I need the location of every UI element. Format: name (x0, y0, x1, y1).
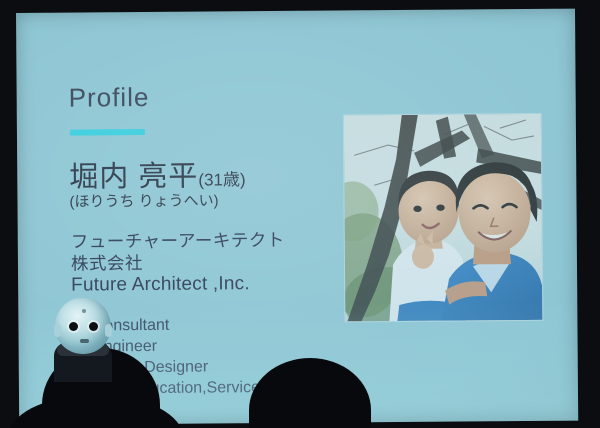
profile-photo (344, 114, 543, 322)
profile-photo-image (344, 114, 543, 322)
robot-forehead-sensor-icon (82, 309, 86, 313)
robot-eye-left-icon (69, 322, 78, 331)
organization-company-suffix: 株式会社 (71, 251, 285, 275)
organization-english: Future Architect ,Inc. (71, 273, 285, 297)
profile-name-furigana: (ほりうち りょうへい) (69, 189, 218, 211)
robot-head (55, 298, 111, 354)
organization-katakana: フューチャーアーキテクト (71, 229, 285, 253)
profile-name-japanese: 堀内 亮平 (69, 161, 198, 194)
slide-title: Profile (69, 82, 150, 114)
profile-age: (31歳) (198, 170, 245, 189)
pepper-robot (52, 296, 114, 382)
robot-ear-left (54, 324, 61, 337)
robot-ear-right (105, 324, 112, 337)
robot-mouth-icon (80, 339, 89, 343)
room-scene: Profile 堀内 亮平(31歳) (ほりうち りょうへい) フューチャーアー… (0, 0, 600, 428)
robot-eye-right-icon (89, 322, 98, 331)
title-underline-rule (70, 129, 145, 136)
profile-organization: フューチャーアーキテクト 株式会社 Future Architect ,Inc. (71, 229, 286, 297)
